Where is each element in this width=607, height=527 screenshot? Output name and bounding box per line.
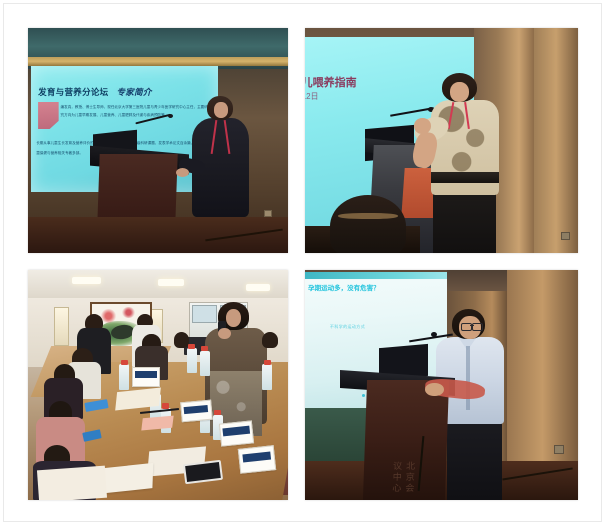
slide-title: 发育与营养分论坛 xyxy=(38,87,108,97)
slide-title: 儿喂养指南 xyxy=(305,74,357,90)
water-bottle-8 xyxy=(262,364,272,389)
speaker-hand xyxy=(414,118,430,134)
audience-head-6 xyxy=(174,332,190,348)
water-bottle-1 xyxy=(119,364,129,389)
speaker-belt xyxy=(431,172,499,183)
wall-sconce-left xyxy=(54,307,69,346)
standing-speaker-hand xyxy=(218,328,231,340)
audience-member-headband xyxy=(338,213,398,220)
slide-title: 孕期运动多，没有危害？ xyxy=(308,282,380,292)
name-card-2 xyxy=(181,400,213,423)
photo-bottom-left[interactable] xyxy=(28,270,288,500)
ceiling-light-1 xyxy=(72,277,101,284)
wall-pillar-cap xyxy=(447,270,507,291)
name-card-1 xyxy=(132,367,160,387)
slide-title-highlight: 专家简介 xyxy=(116,87,151,97)
slide-top-bar xyxy=(305,272,461,279)
photo-top-left[interactable]: 发育与营养分论坛专家简介 编发真，教授、博士生导师，现任北京大学第三医院儿童与青… xyxy=(28,28,288,253)
wall-pillar-right xyxy=(534,28,578,253)
speaker-face xyxy=(214,102,228,118)
water-bottle-3 xyxy=(200,351,210,376)
photo-bottom-right[interactable]: 孕期运动多，没有危害？ 不科学的运动方式 xyxy=(305,270,578,500)
slide-subtitle: 12日 xyxy=(305,91,319,102)
wall-outlet xyxy=(561,232,570,240)
photo-bottom-left-scene xyxy=(28,270,288,500)
eyeglasses-bridge xyxy=(470,325,474,326)
ceiling-light-strip xyxy=(28,57,288,66)
speaker-shirt-placket xyxy=(466,346,470,410)
slide-title-row: 发育与营养分论坛专家简介 xyxy=(38,86,152,98)
window-pane-left xyxy=(192,305,217,323)
eyeglasses-left-lens xyxy=(461,323,473,331)
lectern-engraved-text: 北京会议中心 xyxy=(390,462,417,500)
name-card-4 xyxy=(237,445,275,474)
collage-page: 发育与营养分论坛专家简介 编发真，教授、博士生导师，现任北京大学第三医院儿童与青… xyxy=(0,0,607,527)
microphone-head xyxy=(431,332,437,337)
photo-bottom-right-scene: 孕期运动多，没有危害？ 不科学的运动方式 xyxy=(305,270,578,500)
painting-flower-1 xyxy=(101,309,117,323)
photo-top-right[interactable]: 儿喂养指南 12日 xyxy=(305,28,578,253)
slide-body-line: 不科学的运动方式 xyxy=(330,324,365,330)
photo-top-right-scene: 儿喂养指南 12日 xyxy=(305,28,578,253)
wall-outlet xyxy=(264,210,272,217)
name-card-3 xyxy=(219,420,254,446)
handout-papers-5 xyxy=(37,465,107,500)
wall-outlet xyxy=(554,445,564,454)
ceiling-light-3 xyxy=(246,284,269,291)
slide-portrait-placeholder xyxy=(38,102,59,130)
water-bottle-2 xyxy=(187,348,197,373)
eyeglasses-right-lens xyxy=(472,323,484,331)
floor xyxy=(28,217,288,253)
slide-body-text: 编发真，教授、博士生导师，现任北京大学第三医院儿童与青少年医学研究中心主任，主要… xyxy=(61,104,211,119)
painting-flower-2 xyxy=(122,307,135,319)
mobile-phone-on-table xyxy=(183,459,223,484)
audience-member-head xyxy=(330,195,406,254)
photo-grid: 发育与营养分论坛专家简介 编发真，教授、博士生导师，现任北京大学第三医院儿童与青… xyxy=(0,0,607,527)
ceiling-light-2 xyxy=(158,279,184,286)
photo-top-left-scene: 发育与营养分论坛专家简介 编发真，教授、博士生导师，现任北京大学第三医院儿童与青… xyxy=(28,28,288,253)
lectern: 北京会议中心 xyxy=(363,380,449,500)
speaker-hand xyxy=(176,168,189,177)
audience-head-7 xyxy=(262,332,278,348)
microphone-head xyxy=(168,114,173,118)
speaker-face xyxy=(450,82,469,102)
